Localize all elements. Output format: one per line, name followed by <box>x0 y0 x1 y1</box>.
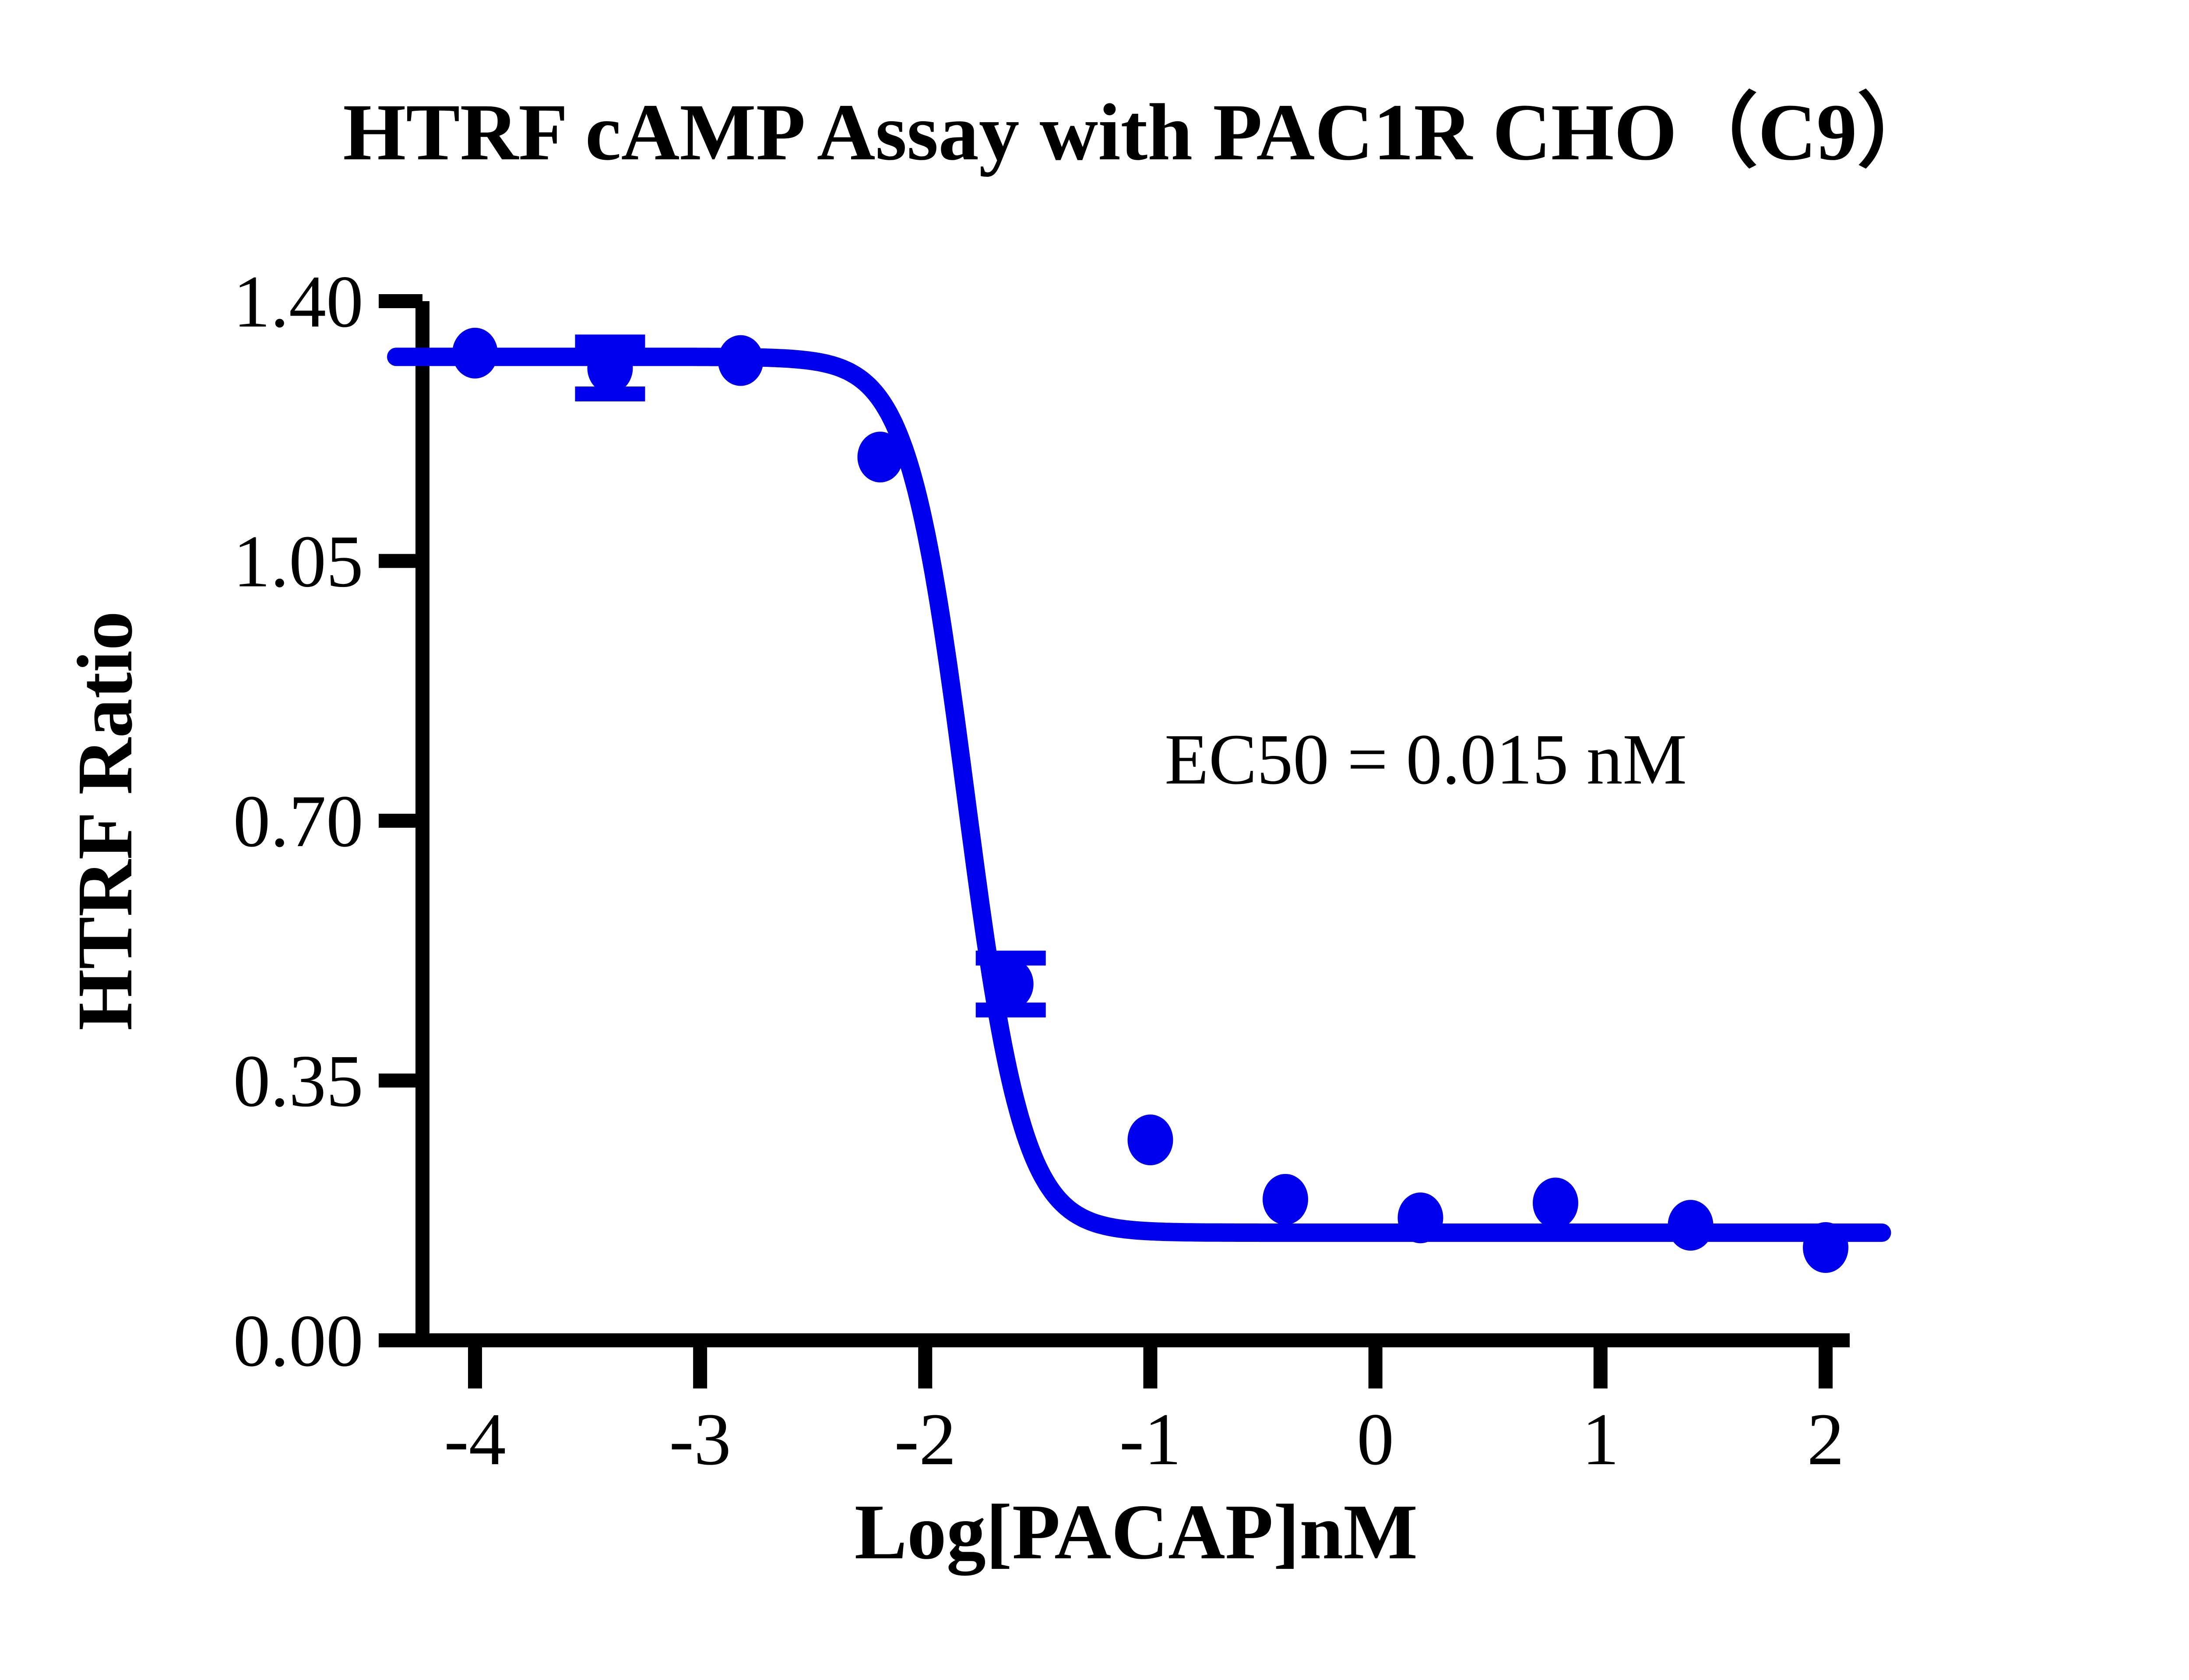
data-point <box>1803 1222 1848 1273</box>
x-tick-label: 1 <box>1582 1398 1619 1480</box>
chart-figure: HTRF cAMP Assay with PAC1R CHO（C9） 0.000… <box>0 0 2189 1680</box>
y-ticks-group: 0.000.350.701.051.40 <box>233 260 423 1382</box>
x-tick-label: -3 <box>669 1398 731 1480</box>
data-point <box>588 343 633 394</box>
data-point <box>1398 1192 1443 1243</box>
data-point <box>1128 1114 1173 1165</box>
y-tick-label: 0.00 <box>233 1300 364 1382</box>
x-ticks-group: -4-3-2-1012 <box>444 1340 1844 1480</box>
x-tick-label: 0 <box>1357 1398 1394 1480</box>
axes-group <box>394 301 1850 1340</box>
data-point <box>452 328 498 379</box>
plot-area: 0.000.350.701.051.40 -4-3-2-1012 Log[PAC… <box>0 0 2189 1680</box>
ec50-annotation: EC50 = 0.015 nM <box>1165 719 1687 799</box>
data-point <box>1263 1174 1308 1225</box>
data-point <box>718 335 764 386</box>
data-point <box>1533 1177 1578 1228</box>
y-tick-label: 0.70 <box>233 780 364 862</box>
x-tick-label: 2 <box>1807 1398 1844 1480</box>
y-tick-label: 0.35 <box>233 1040 364 1122</box>
data-points-group <box>452 328 1848 1273</box>
x-tick-label: -4 <box>444 1398 506 1480</box>
y-axis-title: HTRF Ratio <box>61 611 148 1030</box>
x-tick-label: -2 <box>894 1398 957 1480</box>
y-tick-label: 1.40 <box>233 260 364 343</box>
x-axis-title: Log[PACAP]nM <box>855 1488 1418 1576</box>
data-point <box>858 432 903 482</box>
x-tick-label: -1 <box>1119 1398 1182 1480</box>
data-point <box>1668 1200 1714 1251</box>
data-point <box>988 959 1034 1009</box>
y-tick-label: 1.05 <box>233 520 364 603</box>
